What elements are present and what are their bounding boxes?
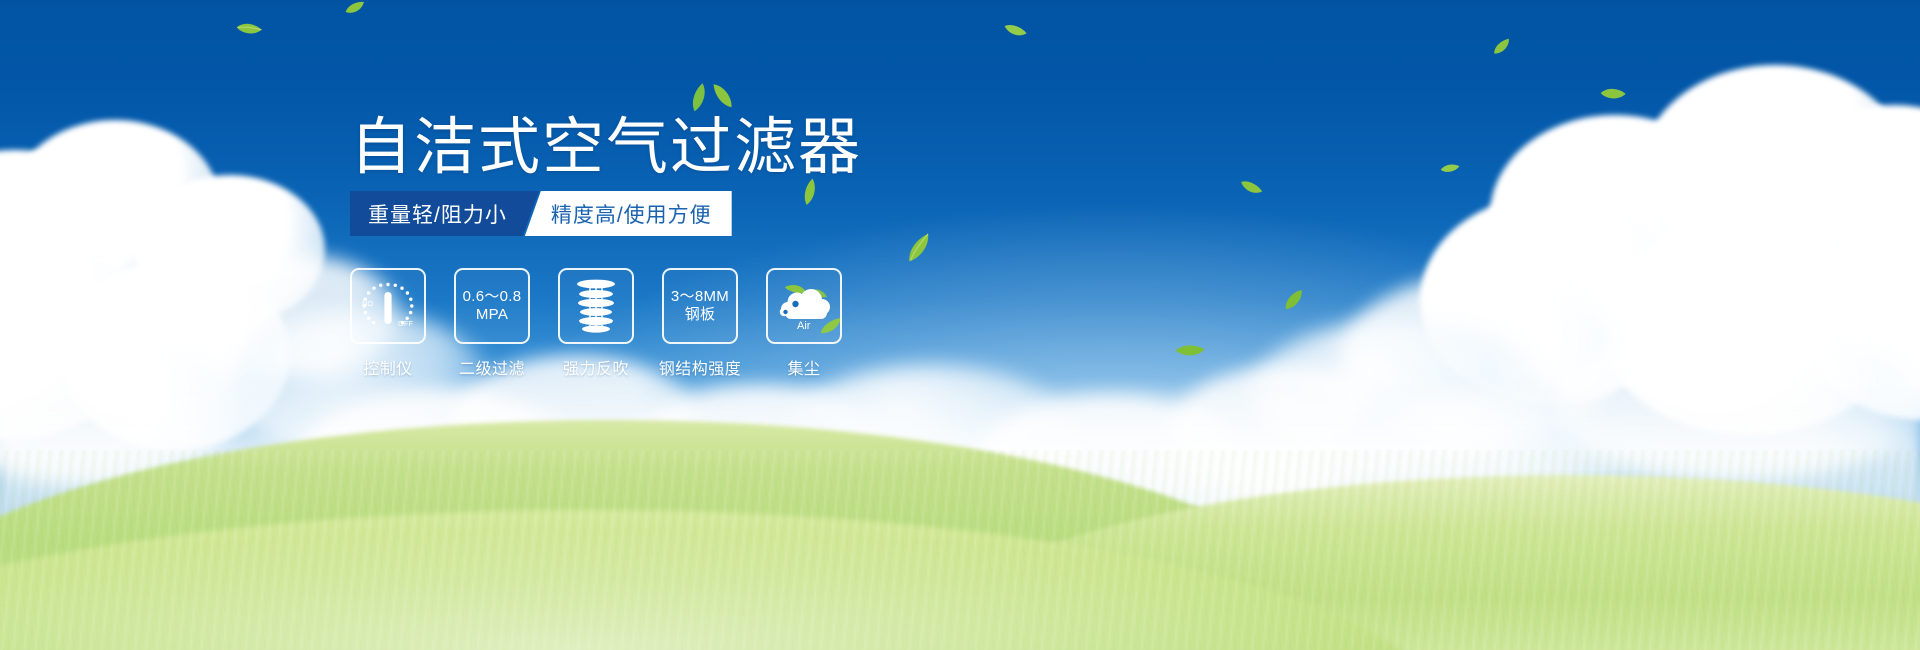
tagline-secondary: 精度高/使用方便 bbox=[525, 191, 732, 236]
hero-banner: 自洁式空气过滤器 重量轻/阻力小 精度高/使用方便 bbox=[0, 0, 1920, 650]
feature-item-dust-collect: Air 集尘 bbox=[766, 268, 842, 379]
feature-item-two-stage: 0.6～0.8 MPA 二级过滤 bbox=[454, 268, 530, 379]
feature-icon-box: 0.6～0.8 MPA bbox=[454, 268, 530, 344]
gauge-label-left: NO bbox=[362, 299, 373, 308]
feature-item-controller: NO OFF 控制仪 bbox=[350, 268, 426, 379]
feature-icon-box: NO OFF bbox=[350, 268, 426, 344]
feature-text-line1: Air bbox=[797, 320, 811, 331]
feature-label: 控制仪 bbox=[363, 355, 413, 379]
feature-label: 强力反吹 bbox=[563, 355, 629, 379]
feature-text-line1: 3～8MM bbox=[671, 288, 729, 305]
pressure-text-icon: 0.6～0.8 MPA bbox=[463, 288, 522, 323]
feature-label: 二级过滤 bbox=[459, 355, 525, 379]
gauge-label-right: OFF bbox=[398, 319, 413, 328]
feature-item-steel-plate: 3～8MM 钢板 钢结构强度 bbox=[662, 268, 738, 379]
tagline-primary: 重量轻/阻力小 bbox=[350, 191, 539, 236]
feature-icon-box: 3～8MM 钢板 bbox=[662, 268, 738, 344]
tagline-group: 重量轻/阻力小 精度高/使用方便 bbox=[350, 191, 732, 236]
cloud-air-icon: Air bbox=[775, 281, 833, 331]
feature-text-line2: MPA bbox=[463, 306, 522, 324]
feature-list: NO OFF 控制仪 0.6～0.8 MPA 二级过滤 bbox=[350, 268, 842, 379]
filter-coil-icon bbox=[570, 277, 622, 335]
feature-label: 集尘 bbox=[787, 355, 820, 379]
feature-text-line2: 钢板 bbox=[671, 306, 729, 324]
banner-content: 自洁式空气过滤器 重量轻/阻力小 精度高/使用方便 bbox=[0, 0, 1920, 650]
gauge-icon: NO OFF bbox=[358, 278, 418, 334]
feature-label: 钢结构强度 bbox=[659, 355, 742, 379]
feature-item-back-blow: 强力反吹 bbox=[558, 268, 634, 379]
plate-text-icon: 3～8MM 钢板 bbox=[671, 288, 729, 323]
feature-text-line1: 0.6～0.8 bbox=[463, 288, 522, 305]
page-title: 自洁式空气过滤器 bbox=[350, 113, 862, 181]
feature-icon-box bbox=[558, 268, 634, 344]
feature-icon-box: Air bbox=[766, 268, 842, 344]
